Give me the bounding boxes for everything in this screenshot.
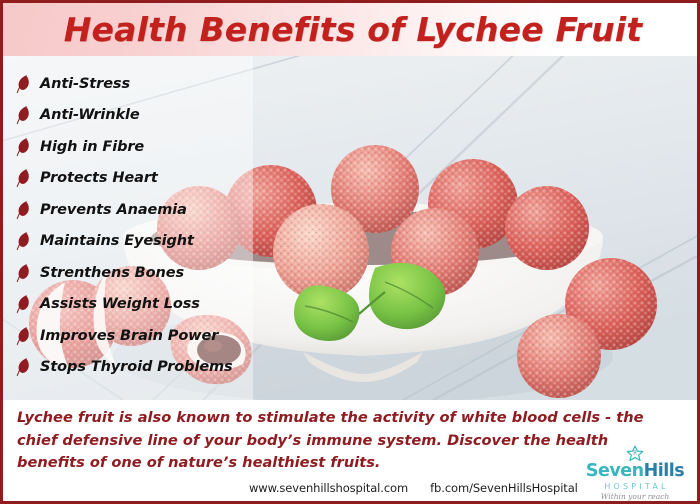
list-item-label: High in Fibre: [40, 139, 144, 155]
leaf-icon: [15, 200, 31, 220]
list-item: Stops Thyroid Problems: [15, 352, 263, 384]
facebook-link[interactable]: fb.com/SevenHillsHospital: [430, 481, 578, 495]
sevenhills-logo[interactable]: R SevenHills HOSPITAL Within your reach: [581, 445, 689, 500]
leaf-icon: [15, 263, 31, 283]
logo-tagline: Within your reach: [581, 493, 689, 501]
list-item: Maintains Eyesight: [15, 226, 263, 258]
list-item-label: Assists Weight Loss: [40, 296, 200, 312]
svg-text:R: R: [633, 450, 637, 456]
benefits-list: Anti-Stress Anti-Wrinkle High in Fibre P…: [3, 56, 263, 400]
poster-header: Health Benefits of Lychee Fruit: [3, 3, 697, 58]
summary-panel: Lychee fruit is also known to stimulate …: [3, 400, 697, 501]
list-item: Anti-Wrinkle: [15, 100, 263, 132]
star-icon: R: [626, 445, 644, 462]
list-item-label: Improves Brain Power: [40, 328, 218, 344]
list-item-label: Strenthens Bones: [40, 265, 184, 281]
leaf-icon: [15, 137, 31, 157]
list-item-label: Anti-Wrinkle: [40, 107, 140, 123]
list-item: Strenthens Bones: [15, 257, 263, 289]
logo-seven: Seven: [586, 461, 644, 481]
leaf-icon: [15, 168, 31, 188]
list-item-label: Maintains Eyesight: [40, 233, 194, 249]
website-link[interactable]: www.sevenhillshospital.com: [249, 481, 408, 495]
leaf-icon: [15, 74, 31, 94]
list-item: Protects Heart: [15, 163, 263, 195]
list-item: Assists Weight Loss: [15, 289, 263, 321]
list-item: Anti-Stress: [15, 68, 263, 100]
leaf-icon: [15, 294, 31, 314]
list-item-label: Prevents Anaemia: [40, 202, 187, 218]
footer-links: www.sevenhillshospital.com fb.com/SevenH…: [249, 481, 578, 495]
logo-subtitle: HOSPITAL: [581, 483, 689, 491]
list-item-label: Protects Heart: [40, 170, 158, 186]
leaf-icon: [15, 357, 31, 377]
summary-text: Lychee fruit is also known to stimulate …: [17, 407, 667, 475]
list-item-label: Stops Thyroid Problems: [40, 359, 233, 375]
list-item: Improves Brain Power: [15, 320, 263, 352]
list-item-label: Anti-Stress: [40, 76, 130, 92]
leaf-icon: [15, 326, 31, 346]
infographic-poster: Health Benefits of Lychee Fruit: [0, 0, 700, 504]
leaf-icon: [15, 105, 31, 125]
logo-hills: Hills: [644, 461, 685, 481]
list-item: Prevents Anaemia: [15, 194, 263, 226]
list-item: High in Fibre: [15, 131, 263, 163]
page-title: Health Benefits of Lychee Fruit: [64, 10, 643, 49]
logo-wordmark: SevenHills: [581, 463, 689, 481]
leaf-icon: [15, 231, 31, 251]
